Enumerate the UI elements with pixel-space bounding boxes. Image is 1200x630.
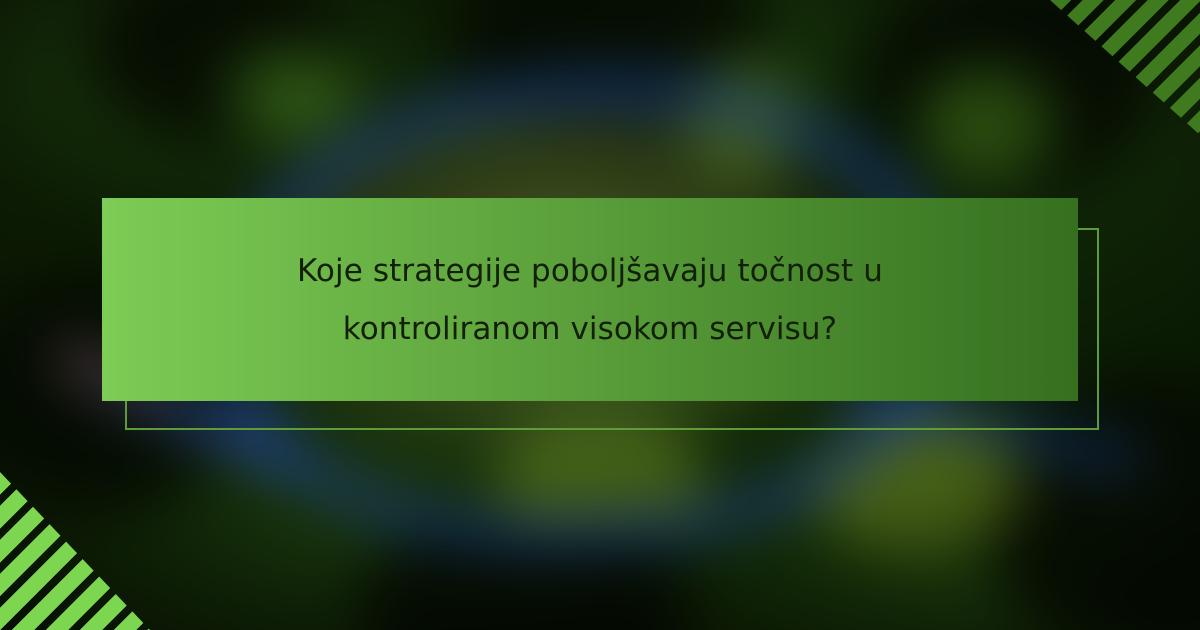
page-title: Koje strategije poboljšavaju točnost u k… bbox=[250, 242, 930, 358]
corner-decoration-top-right bbox=[1050, 0, 1200, 135]
diagonal-dashes-top-right-icon bbox=[1050, 0, 1200, 135]
diagonal-dashes-bottom-left-icon bbox=[0, 472, 150, 630]
promo-banner: Koje strategije poboljšavaju točnost u k… bbox=[0, 0, 1200, 630]
corner-decoration-bottom-left bbox=[0, 472, 150, 630]
headline-card: Koje strategije poboljšavaju točnost u k… bbox=[102, 198, 1078, 401]
